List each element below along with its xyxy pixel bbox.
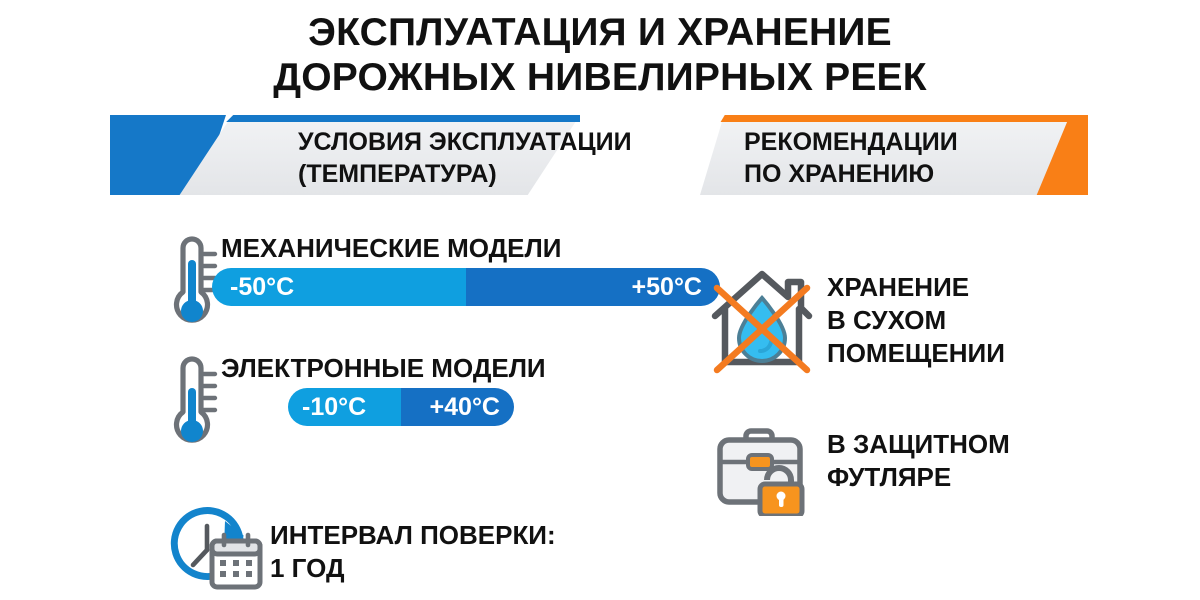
storage-protective-case-text: В ЗАЩИТНОМ ФУТЛЯРЕ [827,428,1010,494]
page-title-line-2: ДОРОЖНЫХ НИВЕЛИРНЫХ РЕЕК [0,55,1200,100]
banner-right-text: РЕКОМЕНДАЦИИ ПО ХРАНЕНИЮ [744,126,1074,190]
storage-protective-case-line-1: В ЗАЩИТНОМ [827,428,1010,461]
electronic-range-cold-half: -10°C [288,388,401,426]
banner-operating-conditions: УСЛОВИЯ ЭКСПЛУАТАЦИИ (ТЕМПЕРАТУРА) [110,115,580,195]
thermometer-icon [168,352,220,461]
storage-item-protective-case: В ЗАЩИТНОМ ФУТЛЯРЕ [712,422,1052,518]
mechanical-range-hot-half: +50°C [466,268,720,306]
storage-dry-room-text: ХРАНЕНИЕ В СУХОМ ПОМЕЩЕНИИ [827,271,1005,370]
storage-dry-room-line-1: ХРАНЕНИЕ [827,271,1005,304]
temperature-row-mechanical: МЕХАНИЧЕСКИЕ МОДЕЛИ -50°C +50°C [168,232,568,340]
banner-left-top-stripe [186,115,580,122]
banner-right-line-2: ПО ХРАНЕНИЮ [744,158,1074,190]
mechanical-max-value: +50°C [632,275,702,300]
storage-item-dry-room: ХРАНЕНИЕ В СУХОМ ПОМЕЩЕНИИ [703,262,1043,382]
electronic-max-value: +40°C [430,395,500,420]
page-title-line-1: ЭКСПЛУАТАЦИЯ И ХРАНЕНИЕ [0,10,1200,55]
calibration-interval-item: ИНТЕРВАЛ ПОВЕРКИ: 1 ГОД [168,505,264,596]
storage-protective-case-line-2: ФУТЛЯРЕ [827,461,1010,494]
page-title: ЭКСПЛУАТАЦИЯ И ХРАНЕНИЕ ДОРОЖНЫХ НИВЕЛИР… [0,10,1200,100]
banner-left-text: УСЛОВИЯ ЭКСПЛУАТАЦИИ (ТЕМПЕРАТУРА) [298,126,688,190]
mechanical-temperature-range: -50°C +50°C [212,268,720,306]
electronic-temperature-range: -10°C +40°C [288,388,514,426]
infographic-page: ЭКСПЛУАТАЦИЯ И ХРАНЕНИЕ ДОРОЖНЫХ НИВЕЛИР… [0,0,1200,600]
banner-right-line-1: РЕКОМЕНДАЦИИ [744,126,1074,158]
calibration-line-1: ИНТЕРВАЛ ПОВЕРКИ: [270,519,556,552]
banner-storage-recommendations: РЕКОМЕНДАЦИИ ПО ХРАНЕНИЮ [700,115,1088,195]
mechanical-range-cold-half: -50°C [212,268,466,306]
storage-dry-room-line-3: ПОМЕЩЕНИИ [827,337,1005,370]
electronic-min-value: -10°C [302,395,366,420]
calibration-line-2: 1 ГОД [270,552,556,585]
electronic-range-hot-half: +40°C [401,388,514,426]
house-no-water-icon [703,262,821,381]
temperature-row-electronic: ЭЛЕКТРОННЫЕ МОДЕЛИ -10°C +40°C [168,352,568,460]
banner-left-line-2: (ТЕМПЕРАТУРА) [298,158,688,190]
banner-left-line-1: УСЛОВИЯ ЭКСПЛУАТАЦИИ [298,126,688,158]
storage-dry-room-line-2: В СУХОМ [827,304,1005,337]
banner-right-top-stripe [700,115,1088,122]
electronic-models-label: ЭЛЕКТРОННЫЕ МОДЕЛИ [221,354,546,382]
toolcase-lock-icon [712,422,822,521]
clock-calendar-icon [168,505,264,596]
calibration-interval-text: ИНТЕРВАЛ ПОВЕРКИ: 1 ГОД [270,519,556,585]
mechanical-models-label: МЕХАНИЧЕСКИЕ МОДЕЛИ [221,234,561,262]
mechanical-min-value: -50°C [230,275,294,300]
